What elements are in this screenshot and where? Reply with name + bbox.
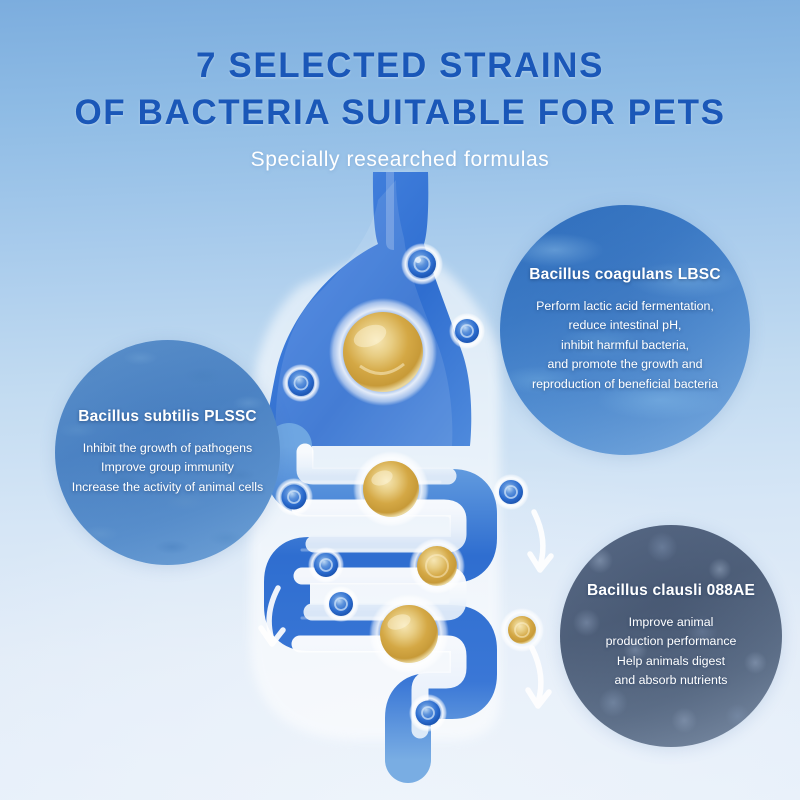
- flow-arrow-right-upper: [530, 512, 551, 570]
- callout-line: inhibit harmful bacteria,: [532, 336, 718, 356]
- callout-line: reproduction of beneficial bacteria: [532, 375, 718, 395]
- callout-title: Bacillus clausli 088AE: [587, 582, 755, 600]
- blue-sphere-outlet: [409, 694, 447, 732]
- gold-sphere-intestine-lower: [369, 594, 449, 674]
- callout-line: Help animals digest: [606, 652, 737, 672]
- callout-line: production performance: [606, 632, 737, 652]
- gold-sphere-small-right: [500, 608, 544, 652]
- blue-sphere-esophagus: [401, 243, 443, 285]
- blue-sphere-coil3-left: [323, 586, 359, 622]
- blue-sphere-coil1-right: [493, 474, 529, 510]
- callout-line: Improve group immunity: [72, 458, 263, 478]
- callout-body: Inhibit the growth of pathogens Improve …: [58, 439, 277, 498]
- callout-line: and promote the growth and: [532, 355, 718, 375]
- callout-line: Improve animal: [606, 613, 737, 633]
- callout-line: Perform lactic acid fermentation,: [532, 297, 718, 317]
- callout-line: Inhibit the growth of pathogens: [72, 439, 263, 459]
- callout-bacillus-clausli[interactable]: Bacillus clausli 088AE Improve animal pr…: [560, 525, 782, 747]
- callout-line: Increase the activity of animal cells: [72, 478, 263, 498]
- callout-line: reduce intestinal pH,: [532, 316, 718, 336]
- page-title-line-1: 7 SELECTED STRAINS: [0, 42, 800, 89]
- blue-sphere-stomach-right: [449, 313, 485, 349]
- page-subtitle: Specially researched formulas: [0, 148, 800, 172]
- callout-bacillus-subtilis[interactable]: Bacillus subtilis PLSSC Inhibit the grow…: [55, 340, 280, 565]
- gold-sphere-large-stomach: [329, 298, 437, 406]
- header-block: 7 SELECTED STRAINS OF BACTERIA SUITABLE …: [0, 42, 800, 172]
- infographic-stage: 7 SELECTED STRAINS OF BACTERIA SUITABLE …: [0, 0, 800, 800]
- callout-title: Bacillus subtilis PLSSC: [78, 408, 257, 426]
- callout-bacillus-coagulans[interactable]: Bacillus coagulans LBSC Perform lactic a…: [500, 205, 750, 455]
- blue-sphere-coil2-left: [308, 547, 344, 583]
- flow-arrow-right-lower: [528, 648, 549, 706]
- callout-body: Perform lactic acid fermentation, reduce…: [518, 297, 732, 395]
- gold-sphere-intestine-top: [353, 451, 429, 527]
- page-title-line-2: OF BACTERIA SUITABLE FOR PETS: [0, 89, 800, 136]
- gold-sphere-intestine-mid: [409, 538, 465, 594]
- callout-body: Improve animal production performance He…: [592, 613, 751, 691]
- callout-line: and absorb nutrients: [606, 671, 737, 691]
- blue-sphere-coil1-left: [275, 478, 313, 516]
- callout-title: Bacillus coagulans LBSC: [529, 266, 721, 284]
- blue-sphere-stomach-left: [282, 364, 320, 402]
